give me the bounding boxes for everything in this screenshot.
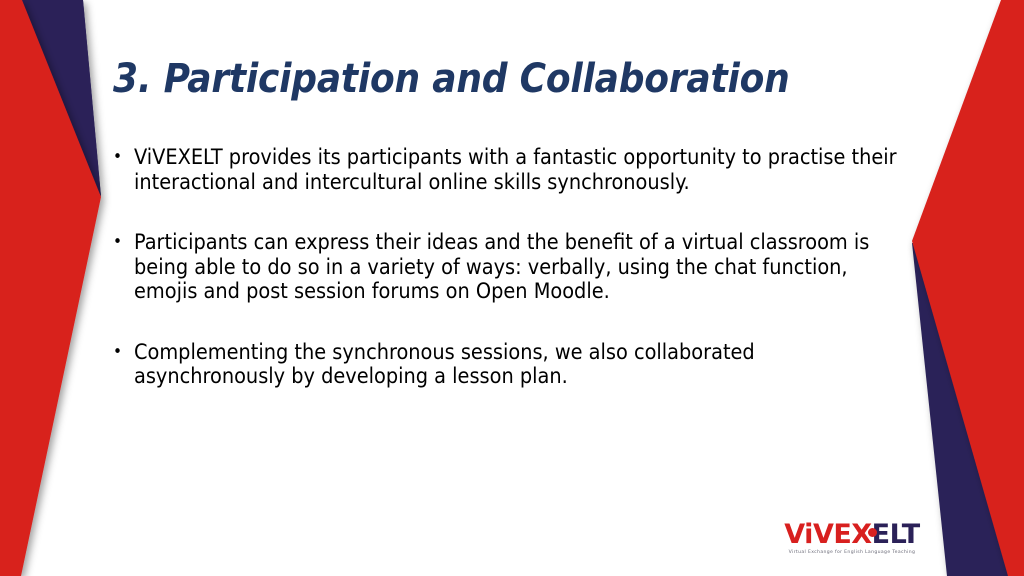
list-item-text: Complementing the synchronous sessions, …: [134, 341, 903, 390]
list-item-text: ViVEXELT provides its participants with …: [134, 146, 903, 195]
logo-wordmark: ViVEXELT: [784, 521, 919, 548]
bullet-list: • ViVEXELT provides its participants wit…: [113, 146, 903, 390]
page-title: 3. Participation and Collaboration: [113, 57, 913, 101]
logo-tagline: Virtual Exchange for English Language Te…: [776, 551, 928, 556]
left-navy-triangle: [20, 0, 101, 196]
logo-text-viv: ViV: [784, 519, 833, 550]
bullet-point-icon: •: [113, 341, 134, 364]
bullet-point-icon: •: [113, 231, 134, 254]
logo-text-elt: ELT: [872, 519, 920, 550]
list-item: • ViVEXELT provides its participants wit…: [113, 146, 903, 195]
vivexelt-logo: ViVEXELT Virtual Exchange for English La…: [776, 521, 928, 565]
list-item: • Participants can express their ideas a…: [113, 231, 903, 305]
bullet-point-icon: •: [113, 146, 134, 169]
list-item: • Complementing the synchronous sessions…: [113, 341, 903, 390]
left-red-chevron: [0, 0, 101, 576]
list-item-text: Participants can express their ideas and…: [134, 231, 903, 305]
slide-canvas: 3. Participation and Collaboration • ViV…: [0, 0, 1024, 576]
left-navy-triangle-body: [12, 0, 101, 197]
right-red-chevron: [912, 0, 1024, 576]
logo-text-e: E: [833, 519, 851, 550]
right-navy-shape: [912, 243, 1024, 576]
